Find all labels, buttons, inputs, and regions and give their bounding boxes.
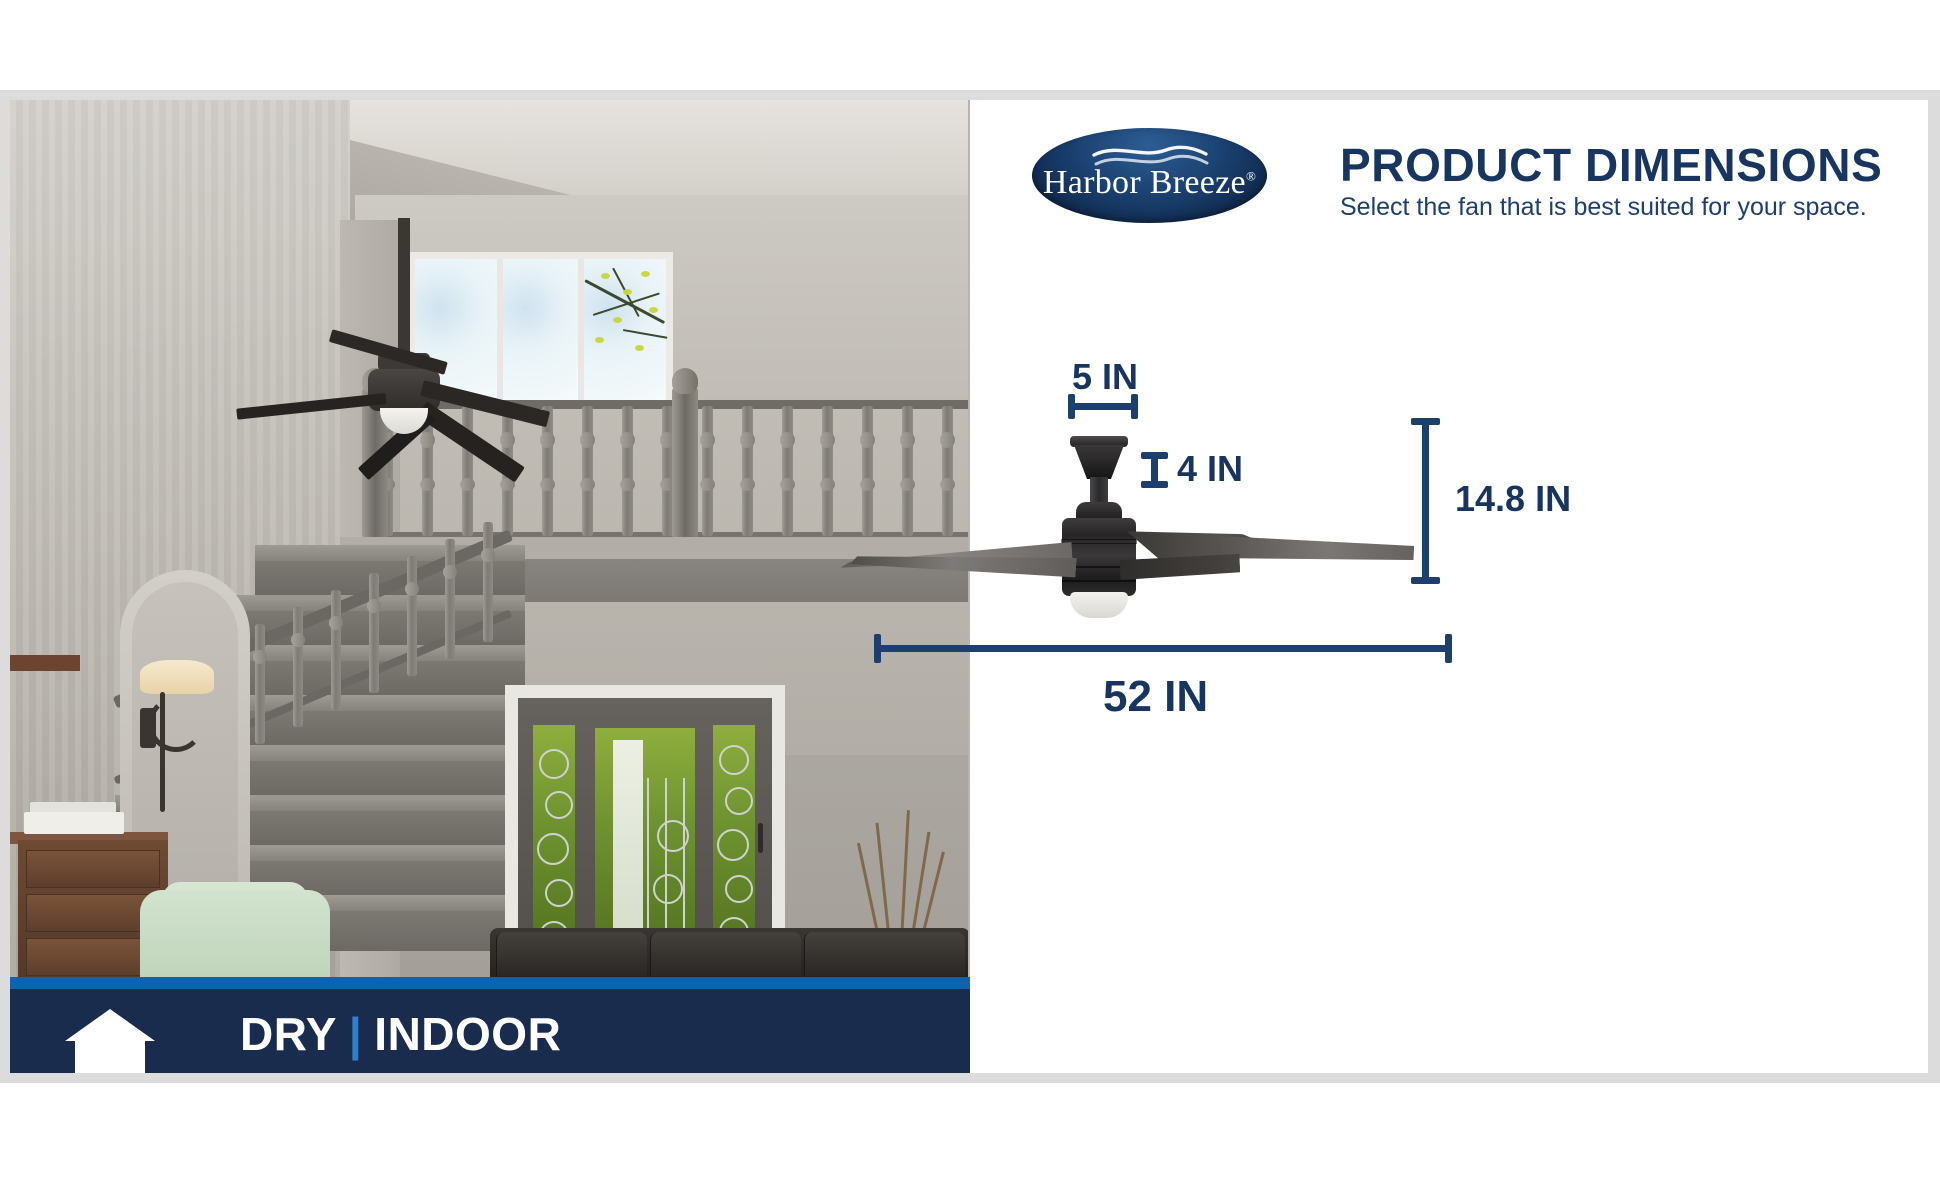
canopy-width-cap-right [1131, 394, 1138, 419]
downrod-label: 4 IN [1177, 448, 1243, 490]
upper-window [408, 252, 673, 407]
blade-span-cap-left [874, 634, 881, 663]
total-height-cap-top [1411, 418, 1440, 425]
banner-title-indoor: INDOOR [374, 1008, 561, 1060]
blade-span-label: 52 IN [1103, 672, 1208, 722]
lifestyle-photo-panel: INDOOR ONLY DRY|INDOOR This fan is desig… [10, 100, 970, 1073]
banner-accent-stripe [10, 977, 970, 989]
page-subtitle: Select the fan that is best suited for y… [1340, 193, 1867, 222]
blade-span-cap-right [1445, 634, 1452, 663]
wall-shelf [10, 655, 80, 671]
frame-bottom-edge [0, 1073, 1940, 1083]
window-pane-center [502, 259, 580, 400]
total-height-label: 14.8 IN [1455, 478, 1571, 520]
content-area: INDOOR ONLY DRY|INDOOR This fan is desig… [10, 100, 1928, 1073]
frame-left-edge [0, 90, 10, 1083]
canopy-width-bar [1068, 403, 1138, 410]
dry-indoor-banner: INDOOR ONLY DRY|INDOOR This fan is desig… [10, 989, 970, 1073]
house-indoor-icon [65, 1009, 155, 1073]
lifestyle-room-photo [10, 100, 970, 977]
dimensions-panel: Harbor Breeze® PRODUCT DIMENSIONS Select… [970, 100, 1928, 1073]
downrod-cap-top [1141, 452, 1168, 459]
downrod-cap-bottom [1141, 481, 1168, 488]
page-title: PRODUCT DIMENSIONS [1340, 138, 1882, 192]
banner-title: DRY|INDOOR [240, 1007, 561, 1061]
banner-title-dry: DRY [240, 1008, 337, 1060]
blade-span-bar [874, 645, 1452, 652]
total-height-cap-bottom [1411, 577, 1440, 584]
banner-title-separator: | [337, 1008, 374, 1060]
total-height-bar [1422, 418, 1429, 584]
window-pane-right [583, 259, 666, 400]
harbor-breeze-logo: Harbor Breeze® [1032, 128, 1267, 223]
frame-top-edge [10, 90, 1930, 100]
product-dimensions-page: INDOOR ONLY DRY|INDOOR This fan is desig… [0, 0, 1940, 1200]
frame-right-edge [1928, 90, 1940, 1083]
canopy-width-label: 5 IN [1072, 356, 1138, 398]
canopy-width-cap-left [1068, 394, 1075, 419]
banner-description: This fan is designed for indoor use only… [240, 1071, 920, 1073]
registered-mark: ® [1246, 169, 1256, 184]
logo-wordmark: Harbor Breeze® [1032, 164, 1267, 202]
